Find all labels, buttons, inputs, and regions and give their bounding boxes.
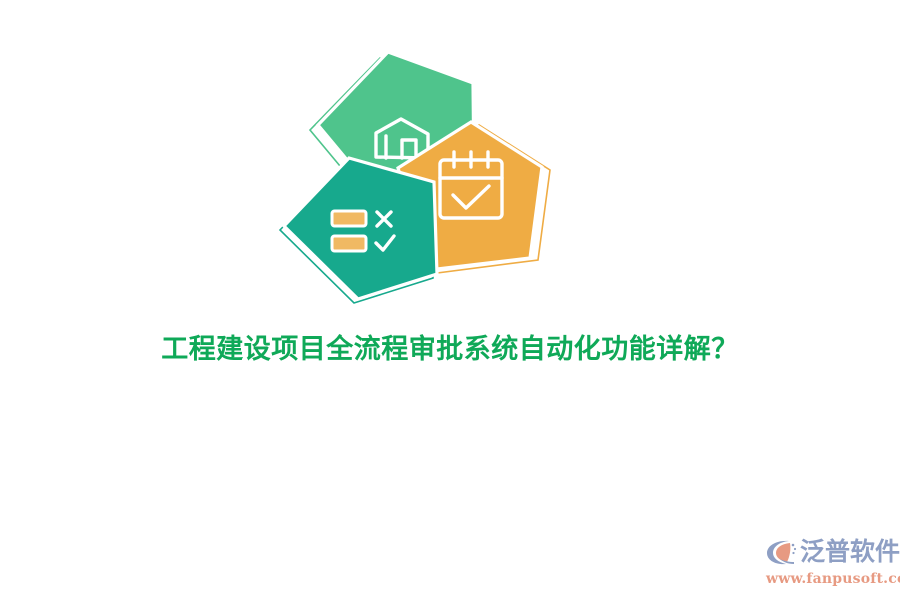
hero-illustration <box>270 40 570 325</box>
brand-name: 泛普软件 <box>800 537 900 567</box>
page-root: 工程建设项目全流程审批系统自动化功能详解？ 泛普软件 www.fanpusoft… <box>0 0 900 600</box>
teal-pentagon <box>284 158 437 299</box>
brand-logo[interactable]: 泛普软件 www.fanpusoft.com <box>765 535 895 590</box>
checklist-bar-2 <box>332 236 366 251</box>
teal-pentagon-shape <box>284 158 437 299</box>
checklist-bar-1 <box>332 211 366 226</box>
fanpu-swoosh-logo-icon <box>765 537 797 567</box>
page-title: 工程建设项目全流程审批系统自动化功能详解？ <box>0 330 900 370</box>
brand-logo-row: 泛普软件 <box>765 535 895 569</box>
brand-url: www.fanpusoft.com <box>766 570 895 588</box>
